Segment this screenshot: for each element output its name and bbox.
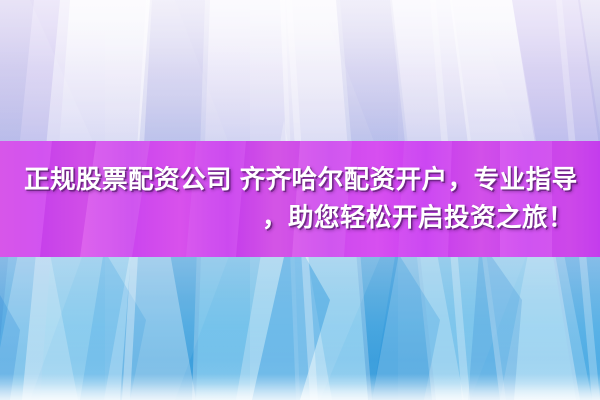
caption-band: 正规股票配资公司 齐齐哈尔配资开户，专业指导 ，助您轻松开启投资之旅！: [0, 141, 600, 257]
bottom-glow: [0, 374, 600, 400]
background-haze: [0, 0, 600, 150]
caption-line-1: 正规股票配资公司 齐齐哈尔配资开户，专业指导: [24, 161, 574, 199]
promo-banner: 正规股票配资公司 齐齐哈尔配资开户，专业指导 ，助您轻松开启投资之旅！: [0, 0, 600, 400]
caption-text: 正规股票配资公司 齐齐哈尔配资开户，专业指导 ，助您轻松开启投资之旅！: [0, 141, 600, 257]
caption-line-2: ，助您轻松开启投资之旅！: [24, 199, 574, 237]
